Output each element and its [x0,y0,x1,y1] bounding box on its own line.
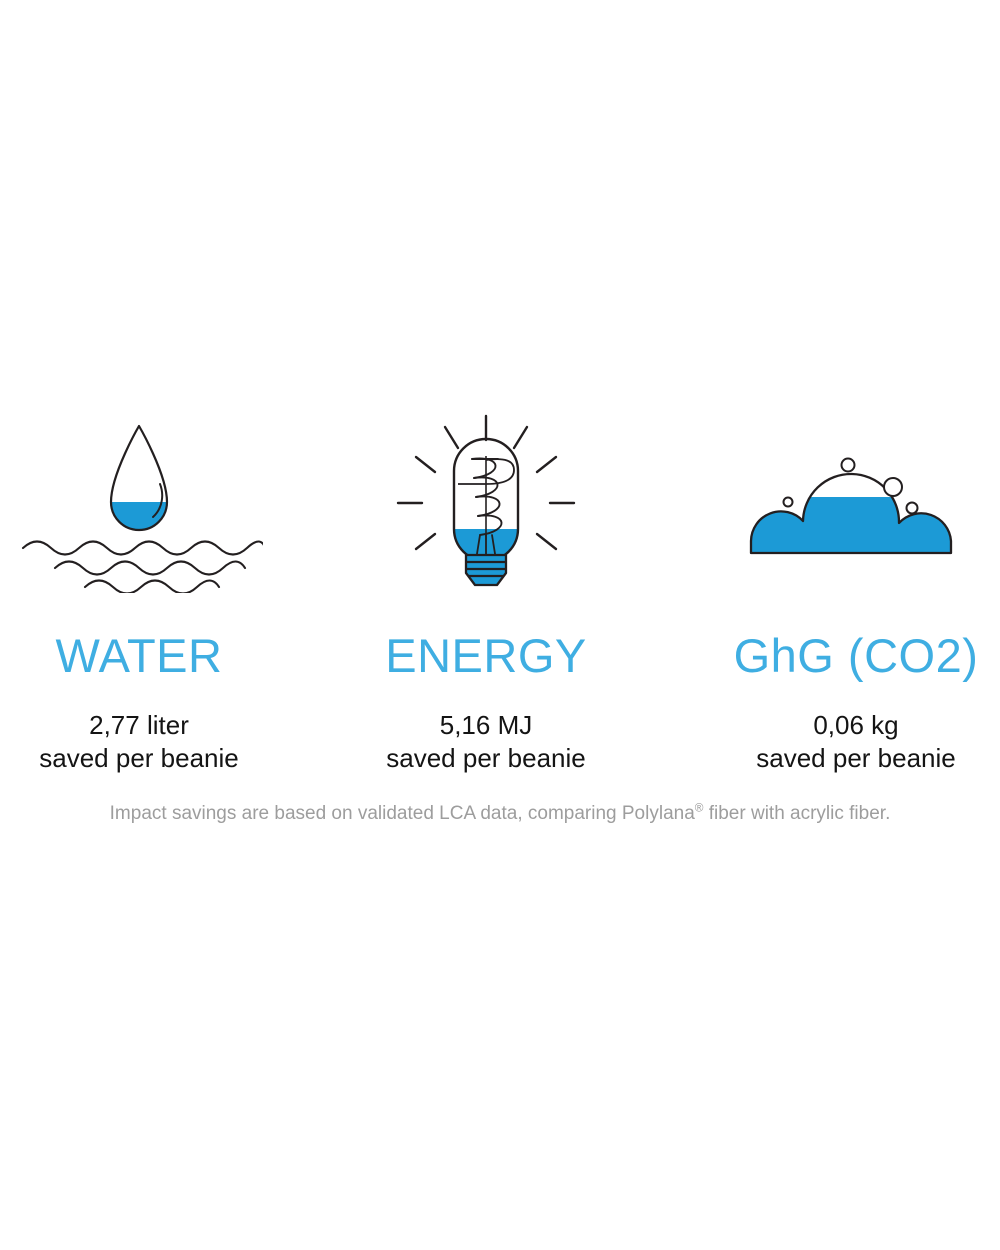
metrics-row: WATER 2,77 liter saved per beanie [0,400,1000,780]
metric-subtitle-energy: saved per beanie [386,742,585,775]
footnote-text-before: Impact savings are based on validated LC… [110,803,695,824]
metric-card-ghg: GhG (CO2) 0,06 kg saved per beanie [712,400,1000,776]
metric-subtitle-water: saved per beanie [39,742,238,775]
metric-title-ghg: GhG (CO2) [734,632,979,679]
metric-value-ghg: 0,06 kg [813,709,898,742]
footnote-text-after: fiber with acrylic fiber. [703,803,890,824]
metric-card-energy: ENERGY 5,16 MJ saved per beanie [347,400,625,776]
metric-title-energy: ENERGY [385,632,587,679]
water-droplet-waves-icon [0,400,278,610]
lightbulb-icon [347,400,625,610]
metric-title-water: WATER [56,632,223,679]
metric-value-energy: 5,16 MJ [440,709,533,742]
metric-card-water: WATER 2,77 liter saved per beanie [0,400,278,776]
cloud-bubbles-icon [712,400,1000,610]
metric-subtitle-ghg: saved per beanie [756,742,955,775]
footnote: Impact savings are based on validated LC… [0,803,1000,826]
metric-value-water: 2,77 liter [89,709,189,742]
impact-savings-infographic: WATER 2,77 liter saved per beanie [0,0,1000,1250]
